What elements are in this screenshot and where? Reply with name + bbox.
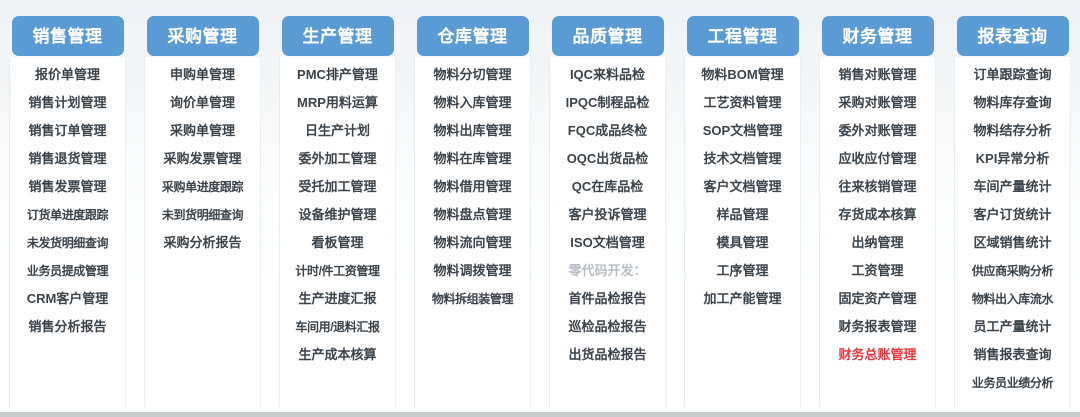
- module-item[interactable]: 客户订货统计: [954, 201, 1071, 229]
- module-card: 仓库管理物料分切管理物料入库管理物料出库管理物料在库管理物料借用管理物料盘点管理…: [405, 0, 540, 412]
- module-item[interactable]: 采购单进度跟踪: [144, 173, 261, 201]
- module-item[interactable]: 设备维护管理: [279, 201, 396, 229]
- module-item[interactable]: 物料在库管理: [414, 145, 531, 173]
- module-item[interactable]: 订货单进度跟踪: [9, 201, 126, 229]
- module-item[interactable]: 业务员业绩分析: [954, 369, 1071, 397]
- module-item[interactable]: 订单跟踪查询: [954, 61, 1071, 89]
- module-card-title[interactable]: 工程管理: [687, 16, 799, 56]
- module-item-group-label: 零代码开发：: [549, 257, 666, 285]
- module-item[interactable]: 存货成本核算: [819, 201, 936, 229]
- module-item[interactable]: 加工产能管理: [684, 285, 801, 313]
- bottom-divider: [0, 412, 1080, 417]
- module-item[interactable]: 物料入库管理: [414, 89, 531, 117]
- module-item[interactable]: 财务总账管理: [819, 341, 936, 369]
- module-item-list: 物料BOM管理工艺资料管理SOP文档管理技术文档管理客户文档管理样品管理模具管理…: [684, 61, 801, 313]
- module-item[interactable]: 客户文档管理: [684, 173, 801, 201]
- module-item[interactable]: FQC成品终检: [549, 117, 666, 145]
- module-item[interactable]: 销售发票管理: [9, 173, 126, 201]
- module-item[interactable]: 生产成本核算: [279, 341, 396, 369]
- module-item[interactable]: 销售订单管理: [9, 117, 126, 145]
- erp-module-board: 销售管理报价单管理销售计划管理销售订单管理销售退货管理销售发票管理订货单进度跟踪…: [0, 0, 1080, 417]
- module-item[interactable]: 物料调拨管理: [414, 257, 531, 285]
- module-card-title[interactable]: 生产管理: [282, 16, 394, 56]
- module-item-list: 销售对账管理采购对账管理委外对账管理应收应付管理往来核销管理存货成本核算出纳管理…: [819, 61, 936, 369]
- module-item[interactable]: 固定资产管理: [819, 285, 936, 313]
- module-item[interactable]: 出货品检报告: [549, 341, 666, 369]
- module-item[interactable]: 生产进度汇报: [279, 285, 396, 313]
- module-item[interactable]: 计时/件工资管理: [279, 257, 396, 285]
- module-item[interactable]: 业务员提成管理: [9, 257, 126, 285]
- module-item[interactable]: 采购单管理: [144, 117, 261, 145]
- module-item[interactable]: 日生产计划: [279, 117, 396, 145]
- module-card: 工程管理物料BOM管理工艺资料管理SOP文档管理技术文档管理客户文档管理样品管理…: [675, 0, 810, 412]
- module-item[interactable]: 技术文档管理: [684, 145, 801, 173]
- module-item[interactable]: 员工产量统计: [954, 313, 1071, 341]
- module-item[interactable]: 工资管理: [819, 257, 936, 285]
- module-item-list: 订单跟踪查询物料库存查询物料结存分析KPI异常分析车间产量统计客户订货统计区域销…: [954, 61, 1071, 397]
- module-item[interactable]: 委外对账管理: [819, 117, 936, 145]
- module-item[interactable]: 模具管理: [684, 229, 801, 257]
- module-card-title[interactable]: 销售管理: [12, 16, 124, 56]
- module-card-title[interactable]: 仓库管理: [417, 16, 529, 56]
- module-item[interactable]: 出纳管理: [819, 229, 936, 257]
- module-item[interactable]: 未到货明细查询: [144, 201, 261, 229]
- module-item[interactable]: IQC来料品检: [549, 61, 666, 89]
- module-item[interactable]: 物料拆组装管理: [414, 285, 531, 313]
- module-item[interactable]: 往来核销管理: [819, 173, 936, 201]
- module-item-list: PMC排产管理MRP用料运算日生产计划委外加工管理受托加工管理设备维护管理看板管…: [279, 61, 396, 369]
- module-item[interactable]: 物料出入库流水: [954, 285, 1071, 313]
- module-item[interactable]: 看板管理: [279, 229, 396, 257]
- module-item[interactable]: 物料盘点管理: [414, 201, 531, 229]
- module-item[interactable]: 销售对账管理: [819, 61, 936, 89]
- module-item[interactable]: IPQC制程品检: [549, 89, 666, 117]
- module-item[interactable]: MRP用料运算: [279, 89, 396, 117]
- module-item-list: IQC来料品检IPQC制程品检FQC成品终检OQC出货品检QC在库品检客户投诉管…: [549, 61, 666, 369]
- module-item[interactable]: QC在库品检: [549, 173, 666, 201]
- module-item[interactable]: 销售计划管理: [9, 89, 126, 117]
- module-card-title[interactable]: 报表查询: [957, 16, 1069, 56]
- module-item[interactable]: 物料结存分析: [954, 117, 1071, 145]
- module-item[interactable]: 委外加工管理: [279, 145, 396, 173]
- module-item[interactable]: 工序管理: [684, 257, 801, 285]
- module-item-list: 申购单管理询价单管理采购单管理采购发票管理采购单进度跟踪未到货明细查询采购分析报…: [144, 61, 261, 257]
- module-item[interactable]: 样品管理: [684, 201, 801, 229]
- module-item[interactable]: 区域销售统计: [954, 229, 1071, 257]
- module-item-list: 物料分切管理物料入库管理物料出库管理物料在库管理物料借用管理物料盘点管理物料流向…: [414, 61, 531, 313]
- module-item[interactable]: 物料库存查询: [954, 89, 1071, 117]
- module-item[interactable]: 车间产量统计: [954, 173, 1071, 201]
- module-card-title[interactable]: 品质管理: [552, 16, 664, 56]
- module-item[interactable]: 申购单管理: [144, 61, 261, 89]
- module-item[interactable]: 销售退货管理: [9, 145, 126, 173]
- module-item[interactable]: ISO文档管理: [549, 229, 666, 257]
- module-item[interactable]: 询价单管理: [144, 89, 261, 117]
- module-item[interactable]: 车间用/退料汇报: [279, 313, 396, 341]
- module-item[interactable]: 报价单管理: [9, 61, 126, 89]
- module-item[interactable]: CRM客户管理: [9, 285, 126, 313]
- module-item[interactable]: 采购分析报告: [144, 229, 261, 257]
- module-item[interactable]: OQC出货品检: [549, 145, 666, 173]
- module-item[interactable]: KPI异常分析: [954, 145, 1071, 173]
- module-item[interactable]: 物料分切管理: [414, 61, 531, 89]
- module-columns-container: 销售管理报价单管理销售计划管理销售订单管理销售退货管理销售发票管理订货单进度跟踪…: [0, 0, 1080, 412]
- module-item[interactable]: 供应商采购分析: [954, 257, 1071, 285]
- module-item[interactable]: 销售分析报告: [9, 313, 126, 341]
- module-item[interactable]: 客户投诉管理: [549, 201, 666, 229]
- module-card: 销售管理报价单管理销售计划管理销售订单管理销售退货管理销售发票管理订货单进度跟踪…: [0, 0, 135, 412]
- module-item[interactable]: 巡检品检报告: [549, 313, 666, 341]
- module-card-title[interactable]: 采购管理: [147, 16, 259, 56]
- module-item[interactable]: 物料BOM管理: [684, 61, 801, 89]
- module-item-list: 报价单管理销售计划管理销售订单管理销售退货管理销售发票管理订货单进度跟踪未发货明…: [9, 61, 126, 341]
- module-card: 生产管理PMC排产管理MRP用料运算日生产计划委外加工管理受托加工管理设备维护管…: [270, 0, 405, 412]
- module-card: 品质管理IQC来料品检IPQC制程品检FQC成品终检OQC出货品检QC在库品检客…: [540, 0, 675, 412]
- module-item[interactable]: PMC排产管理: [279, 61, 396, 89]
- module-item[interactable]: 物料流向管理: [414, 229, 531, 257]
- module-card: 报表查询订单跟踪查询物料库存查询物料结存分析KPI异常分析车间产量统计客户订货统…: [945, 0, 1080, 412]
- module-card: 财务管理销售对账管理采购对账管理委外对账管理应收应付管理往来核销管理存货成本核算…: [810, 0, 945, 412]
- module-item[interactable]: 首件品检报告: [549, 285, 666, 313]
- module-item[interactable]: 物料出库管理: [414, 117, 531, 145]
- module-item[interactable]: 采购对账管理: [819, 89, 936, 117]
- module-item[interactable]: 财务报表管理: [819, 313, 936, 341]
- module-item[interactable]: 工艺资料管理: [684, 89, 801, 117]
- module-item[interactable]: 应收应付管理: [819, 145, 936, 173]
- module-card-title[interactable]: 财务管理: [822, 16, 934, 56]
- module-item[interactable]: 销售报表查询: [954, 341, 1071, 369]
- module-item[interactable]: 物料借用管理: [414, 173, 531, 201]
- module-item[interactable]: 采购发票管理: [144, 145, 261, 173]
- module-card: 采购管理申购单管理询价单管理采购单管理采购发票管理采购单进度跟踪未到货明细查询采…: [135, 0, 270, 412]
- module-item[interactable]: 未发货明细查询: [9, 229, 126, 257]
- module-item[interactable]: SOP文档管理: [684, 117, 801, 145]
- module-item[interactable]: 受托加工管理: [279, 173, 396, 201]
